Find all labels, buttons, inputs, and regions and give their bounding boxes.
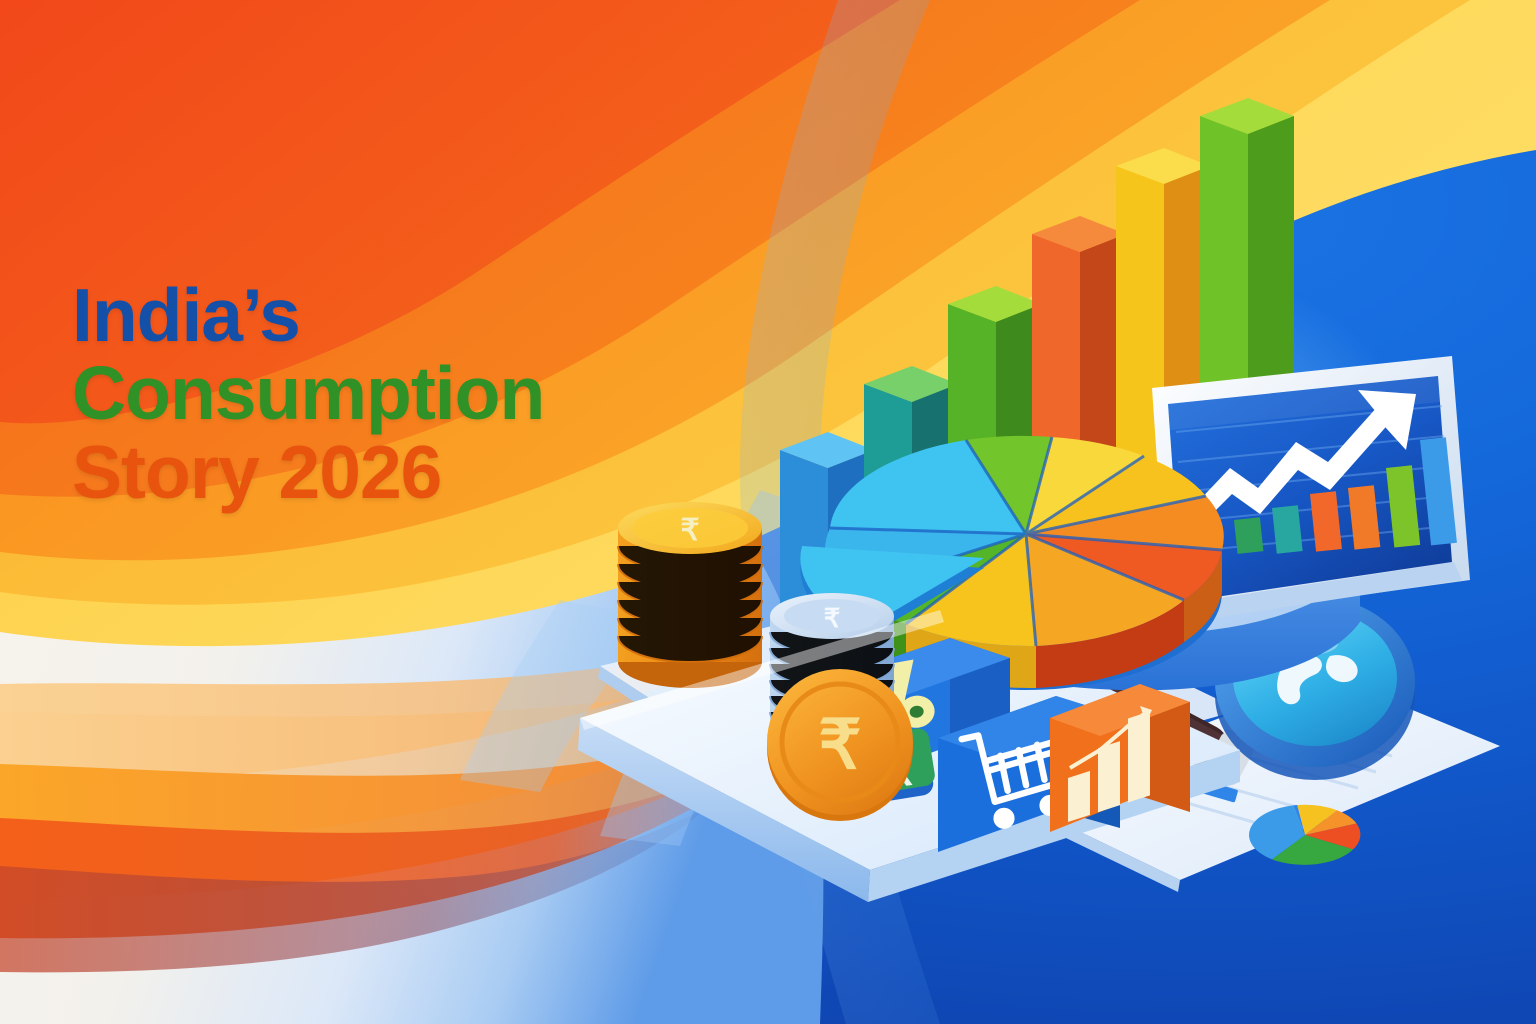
rupee-coin: ₹ — [767, 669, 913, 821]
gold-coin-symbol: ₹ — [680, 514, 699, 547]
page-title: India’s Consumption Story 2026 — [72, 278, 544, 509]
poster-canvas: India’s Consumption Story 2026 — [0, 0, 1536, 1024]
title-line-3: Story 2026 — [72, 435, 544, 509]
silver-coin-symbol: ₹ — [824, 603, 841, 633]
title-line-1: India’s — [72, 278, 544, 352]
title-line-2: Consumption — [72, 356, 544, 430]
gold-coin-stack: ₹ — [618, 502, 762, 688]
data-analytics-illustration: ₹ ₹ — [540, 110, 1520, 900]
rupee-coin-symbol: ₹ — [818, 707, 861, 783]
